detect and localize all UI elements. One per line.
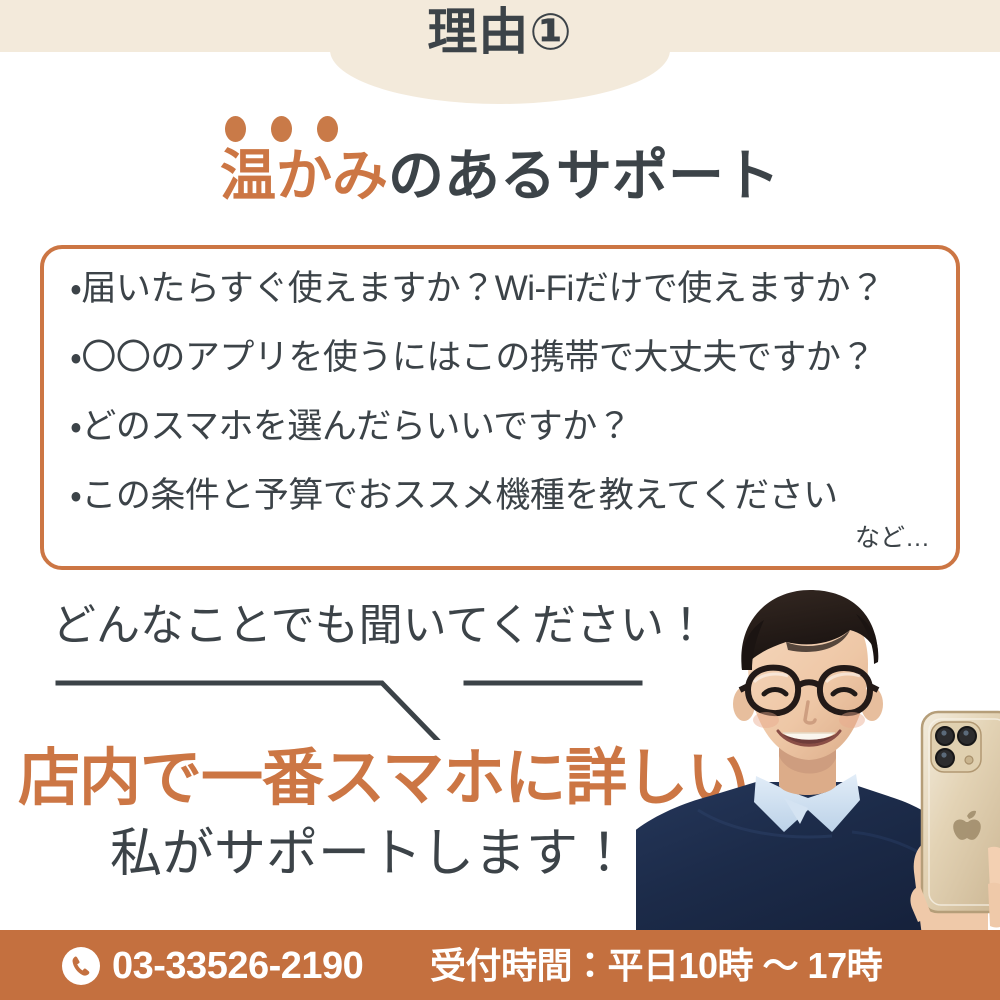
dot-icon bbox=[225, 116, 246, 142]
dot-icon bbox=[317, 116, 338, 142]
list-item: ・〇〇のアプリを使うにはこの携帯で大丈夫ですか？ bbox=[70, 340, 942, 375]
list-item: ・この条件と予算でおススメ機種を教えてください bbox=[70, 478, 942, 513]
subtitle-highlight: 温かみ bbox=[220, 144, 388, 207]
phone-number[interactable]: 03-33526-2190 bbox=[112, 949, 363, 983]
business-hours: 受付時間：平日10時 〜 17時 bbox=[430, 949, 882, 983]
claim-subline: 私がサポートします！ bbox=[110, 828, 630, 880]
section-subtitle: 温かみのあるサポート bbox=[0, 146, 1000, 206]
question-list-box: ・届いたらすぐ使えますか？Wi-Fiだけで使えますか？ ・〇〇のアプリを使うには… bbox=[40, 245, 960, 570]
etcetera-label: など… bbox=[855, 518, 930, 554]
dot-icon bbox=[271, 116, 292, 142]
poster-canvas: 理由① 温かみのあるサポート ・届いたらすぐ使えますか？Wi-Fiだけで使えます… bbox=[0, 0, 1000, 1000]
ask-anything-text: どんなことでも聞いてください！ bbox=[52, 604, 708, 648]
subtitle-rest: のあるサポート bbox=[388, 144, 780, 207]
question-list: ・届いたらすぐ使えますか？Wi-Fiだけで使えますか？ ・〇〇のアプリを使うには… bbox=[70, 271, 942, 513]
staff-portrait-illustration bbox=[636, 586, 1000, 936]
speech-bubble-underline-icon bbox=[40, 660, 680, 740]
contact-footer-bar: 03-33526-2190 受付時間：平日10時 〜 17時 bbox=[0, 930, 1000, 1000]
three-dots-icon bbox=[225, 116, 355, 142]
iphone-pro-gold-back-icon bbox=[922, 712, 1000, 912]
list-item: ・届いたらすぐ使えますか？Wi-Fiだけで使えますか？ bbox=[70, 271, 942, 306]
phone-handset-icon[interactable] bbox=[62, 947, 100, 985]
staff-portrait bbox=[636, 586, 1000, 936]
page-title: 理由① bbox=[0, 7, 1000, 57]
list-item: ・どのスマホを選んだらいいですか？ bbox=[70, 409, 942, 444]
